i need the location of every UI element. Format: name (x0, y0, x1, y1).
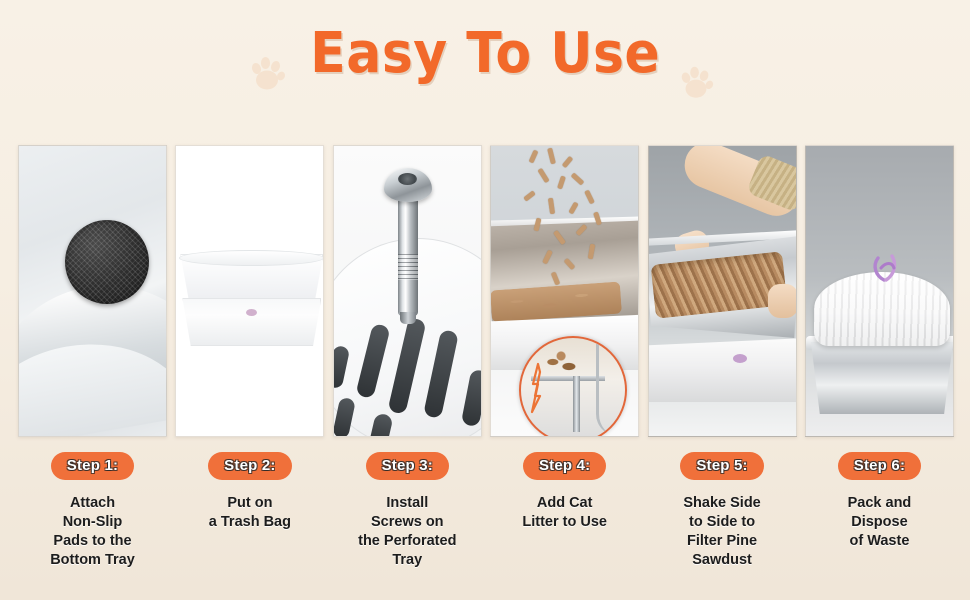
screw-knurl-shape (398, 254, 418, 280)
step-image-2 (175, 145, 324, 437)
step-caption-1: Step 1: AttachNon-SlipPads to theBottom … (18, 452, 167, 570)
step-badge-2: Step 2: (208, 452, 291, 480)
step-image-3 (333, 145, 482, 437)
step-description-5: Shake Sideto Side toFilter PineSawdust (648, 494, 797, 570)
purple-drawstring-icon (868, 250, 902, 284)
step-badge-5: Step 5: (680, 452, 763, 480)
step-image-1 (18, 145, 167, 437)
step-image-6 (805, 145, 954, 437)
step-captions: Step 1: AttachNon-SlipPads to theBottom … (18, 452, 954, 570)
trash-bag-rim-shape (179, 250, 324, 266)
falling-pellet (569, 202, 579, 215)
step-caption-5: Step 5: Shake Sideto Side toFilter PineS… (648, 452, 797, 570)
step-description-4: Add CatLitter to Use (490, 494, 639, 532)
steel-tray-shape (808, 342, 954, 414)
non-slip-pad-icon (65, 220, 149, 304)
falling-pellet (529, 150, 539, 164)
step-description-2: Put ona Trash Bag (175, 494, 324, 532)
step-badge-6: Step 6: (838, 452, 921, 480)
step-image-5 (648, 145, 797, 437)
falling-pellet (547, 148, 556, 165)
page-title: Easy To Use (310, 22, 660, 86)
falling-pellet (538, 168, 550, 183)
cross-section-inset (519, 336, 627, 437)
falling-pellet (571, 172, 585, 185)
screw-drive-slot-icon (398, 173, 417, 185)
step-caption-2: Step 2: Put ona Trash Bag (175, 452, 324, 570)
inset-screw-post (573, 376, 580, 432)
falling-pellet (562, 156, 574, 168)
step-image-4 (490, 145, 639, 437)
step-description-1: AttachNon-SlipPads to theBottom Tray (18, 494, 167, 570)
step-description-3: InstallScrews onthe PerforatedTray (333, 494, 482, 570)
right-hand-shape (768, 284, 797, 318)
step-badge-1: Step 1: (51, 452, 134, 480)
page-title-container: Easy To Use (0, 22, 970, 86)
falling-pellet (523, 190, 536, 201)
purple-tab-icon (733, 354, 747, 363)
falling-pellet (548, 198, 555, 215)
step-caption-4: Step 4: Add CatLitter to Use (490, 452, 639, 570)
step-badge-3: Step 3: (366, 452, 449, 480)
down-arrow-icon (529, 362, 545, 420)
falling-pellet (557, 176, 566, 190)
step-badge-4: Step 4: (523, 452, 606, 480)
step-description-6: Pack andDisposeof Waste (805, 494, 954, 551)
white-base-tray-shape (648, 338, 797, 402)
falling-pellet (584, 190, 595, 205)
inset-tray-edge (596, 344, 621, 436)
step-caption-6: Step 6: Pack andDisposeof Waste (805, 452, 954, 570)
white-tray-shape (182, 298, 321, 346)
step-image-gallery (18, 145, 954, 437)
step-caption-3: Step 3: InstallScrews onthe PerforatedTr… (333, 452, 482, 570)
screw-tip-shape (400, 312, 416, 324)
